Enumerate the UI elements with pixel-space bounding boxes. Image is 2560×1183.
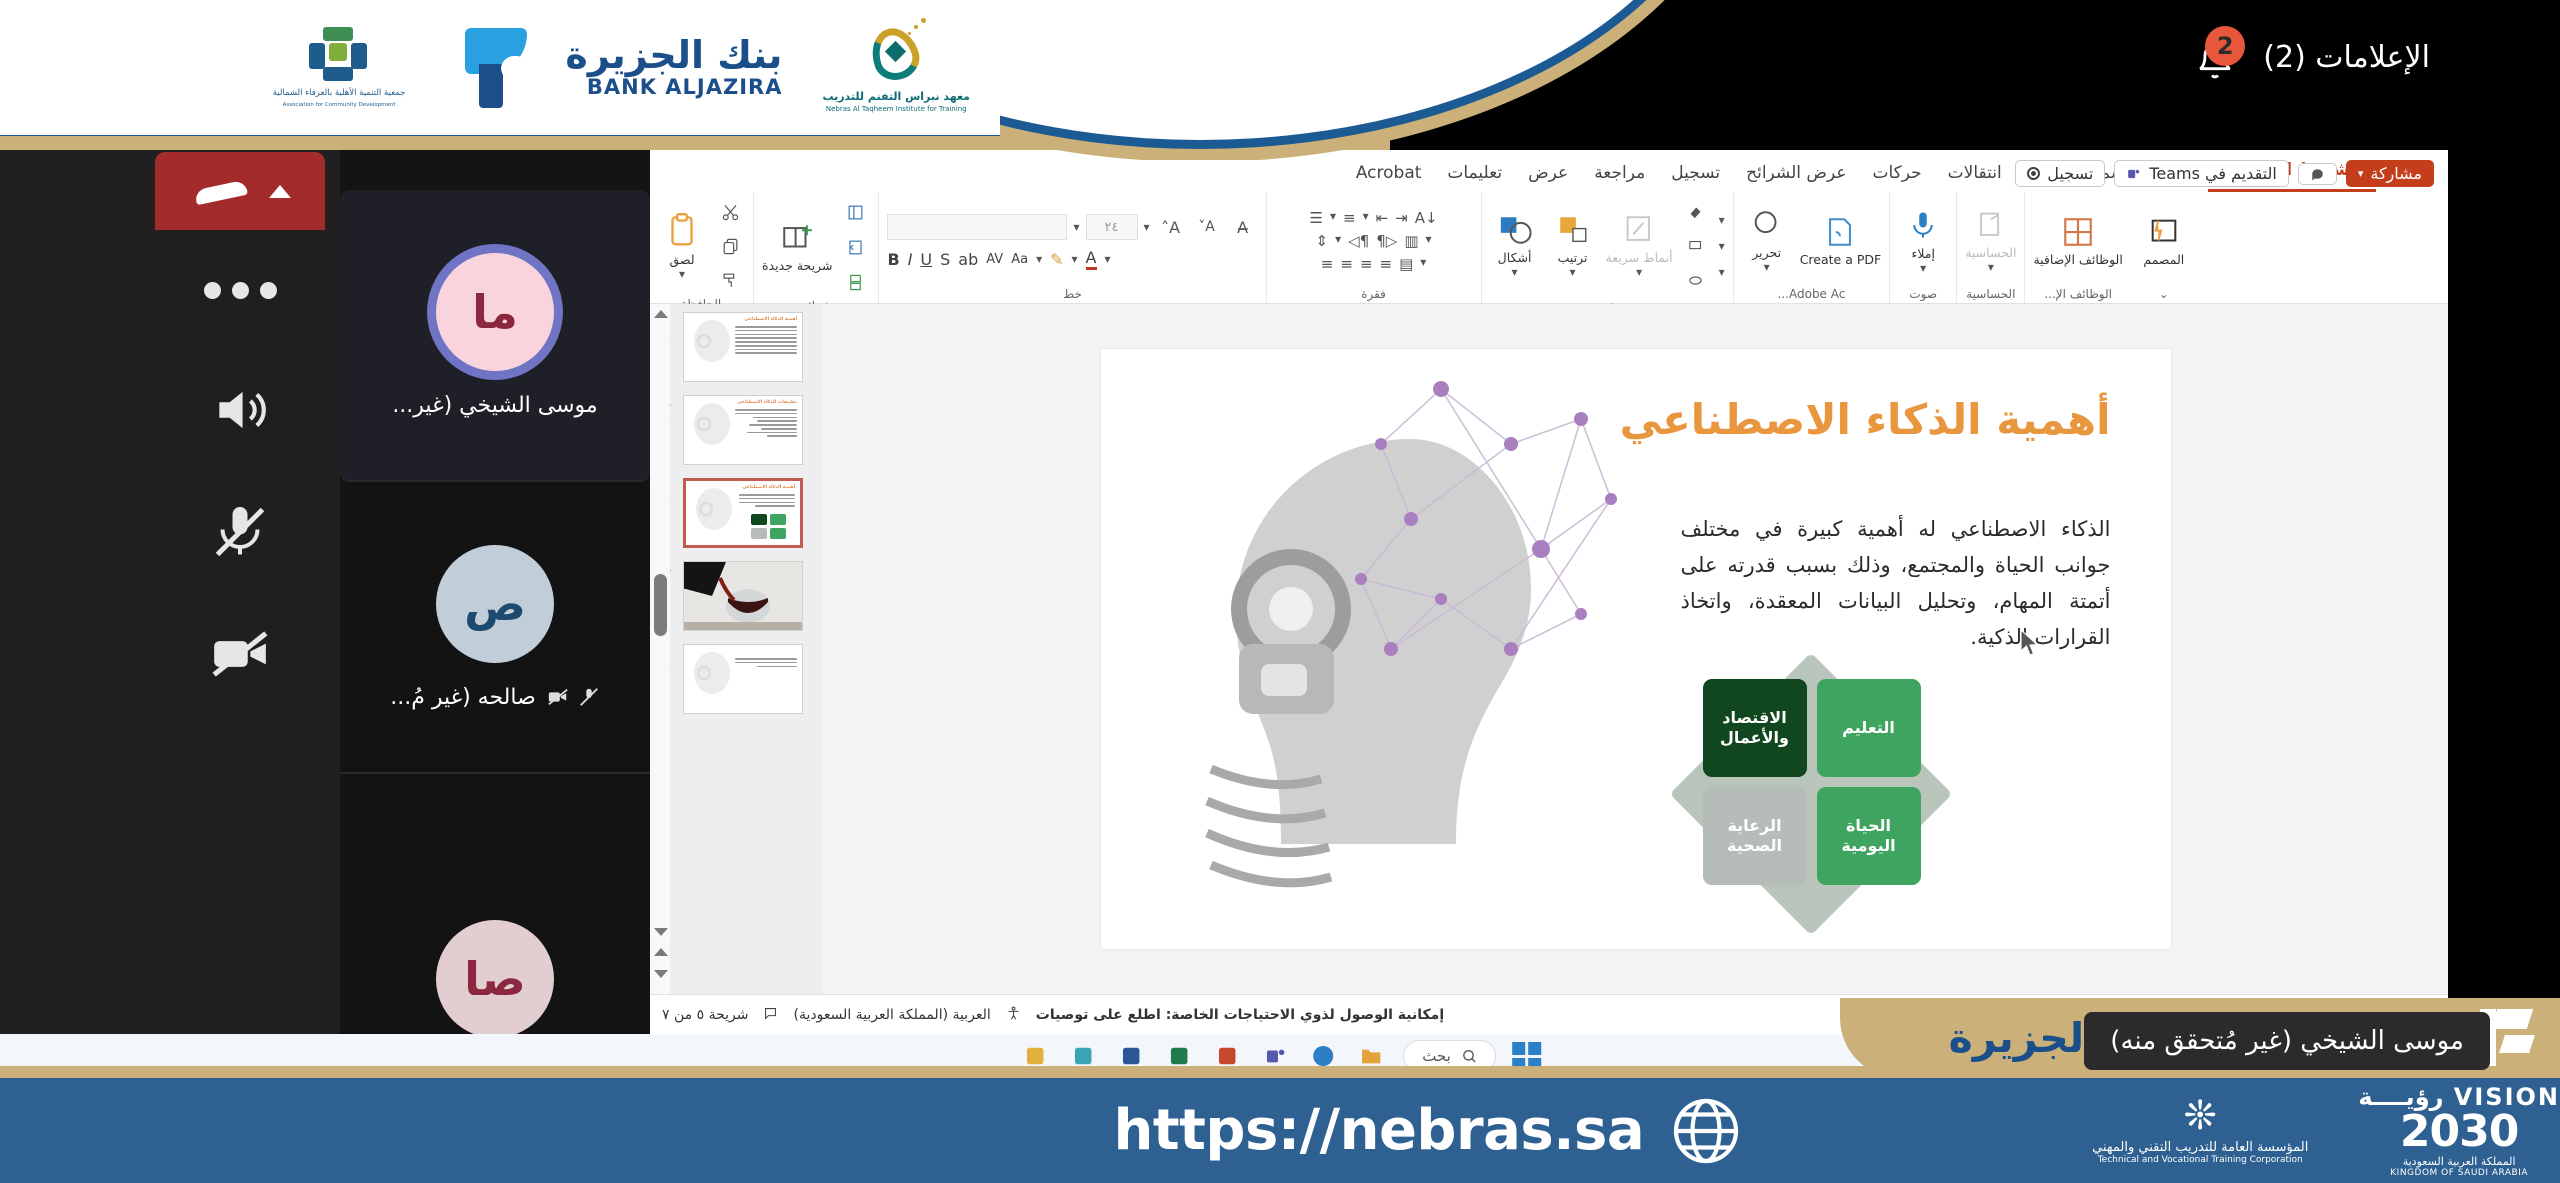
slide-body-text[interactable]: الذكاء الاصطناعي له أهمية كبيرة في مختلف… xyxy=(1681,511,2111,655)
hangup-icon xyxy=(189,177,253,205)
cut-icon[interactable] xyxy=(715,197,745,227)
vision-2030-logo: VISION رؤيــــة 2030 المملكة العربية الس… xyxy=(2338,1083,2560,1179)
thumbnail-row[interactable]: 3✸ أهمية الذكاء الاصطناعي xyxy=(655,312,817,382)
participant-status-icons xyxy=(546,686,600,708)
shadow-button[interactable]: S xyxy=(940,250,950,269)
sensitivity-label: الحساسية xyxy=(1965,245,2016,261)
scrollbar-thumb[interactable] xyxy=(654,574,667,636)
comments-button[interactable] xyxy=(2298,163,2337,185)
shape-outline-icon[interactable] xyxy=(1681,231,1711,261)
align-center-icon[interactable]: ≡ xyxy=(1340,255,1353,273)
format-painter-icon[interactable] xyxy=(715,265,745,295)
designer-button[interactable]: المصمم xyxy=(2139,215,2189,268)
clear-formatting-icon[interactable]: A̶ xyxy=(1228,212,1258,242)
designer-icon xyxy=(2145,215,2183,249)
speaker-icon xyxy=(209,379,271,441)
add-ins-icon xyxy=(2060,215,2096,249)
notifications-area[interactable]: الإعلامات (2) 2 xyxy=(2187,30,2430,84)
chevron-down-icon[interactable]: ▾ xyxy=(1636,265,1642,279)
bank-aljazira-mark-icon xyxy=(465,28,551,108)
bullets-icon[interactable]: ☰ xyxy=(1310,209,1323,227)
header-arc-decoration xyxy=(1000,0,1700,160)
character-spacing-icon[interactable]: AV xyxy=(986,252,1003,267)
tab-view[interactable]: عرض xyxy=(1515,158,1581,192)
ellipsis-icon xyxy=(204,282,277,299)
quad-box-healthcare[interactable]: الرعاية الصحية xyxy=(1703,787,1807,885)
dictate-icon xyxy=(1908,207,1938,243)
shape-fill-icon[interactable] xyxy=(1681,197,1711,227)
create-pdf-label: Create a PDF xyxy=(1800,252,1882,268)
association-logo-ar: جمعية التنمية الأهلية بالعرفاء الشمالية xyxy=(273,88,406,99)
participant-tiles: ما موسى الشيخي (غير... ص صالحه (غير مُ..… xyxy=(340,150,650,1050)
participant-name: موسى الشيخي (غير... xyxy=(392,393,597,418)
nebras-mark-icon xyxy=(864,22,928,86)
chevron-down-icon[interactable]: ▾ xyxy=(1036,252,1042,266)
bold-button[interactable]: B xyxy=(887,250,899,269)
align-right-icon[interactable]: ≡ xyxy=(1321,255,1334,273)
ribbon-group-label-font: خط xyxy=(1063,285,1082,301)
increase-indent-icon[interactable]: ⇥ xyxy=(1395,209,1408,227)
association-logo-en: Association for Community Development xyxy=(283,102,396,108)
line-spacing-icon[interactable]: ⇕ xyxy=(1316,232,1329,250)
ribbon-group-label-sensitivity: الحساسية xyxy=(1966,285,2015,301)
thumbnail-slide-3[interactable]: أهمية الذكاء الاصطناعي xyxy=(683,312,803,382)
create-pdf-button[interactable]: Create a PDF xyxy=(1800,215,1882,268)
shapes-label: أشكال xyxy=(1498,250,1532,266)
reset-icon[interactable] xyxy=(840,232,870,262)
ribbon-group-adobe: تحرير ▾ Create a PDF Adobe Ac... xyxy=(1733,192,1890,303)
thumbnail-slide-7[interactable] xyxy=(683,644,803,714)
decrease-font-size-icon[interactable]: A˅ xyxy=(1192,212,1222,242)
thumbnail-slide-6[interactable] xyxy=(683,561,803,631)
participant-tile-1[interactable]: ما موسى الشيخي (غير... xyxy=(340,190,650,482)
ribbon-collapse-chevron[interactable]: ⌄ xyxy=(2159,285,2169,301)
teams-icon xyxy=(2126,167,2142,181)
notification-badge: 2 xyxy=(2205,26,2245,66)
chevron-down-icon[interactable]: ▾ xyxy=(1512,265,1518,279)
new-slide-label: شريحة جديدة xyxy=(762,258,832,274)
paste-button[interactable]: لصق ▾ xyxy=(657,211,707,282)
website-url: https://nebras.sa xyxy=(1113,1098,1644,1163)
edit-pdf-button[interactable]: تحرير ▾ xyxy=(1742,208,1792,275)
ribbon-group-voice: إملاء ▾ صوت xyxy=(1889,192,1956,303)
chevron-down-icon: ▾ xyxy=(2358,167,2364,180)
italic-button[interactable]: I xyxy=(908,250,913,269)
camera-off-button[interactable] xyxy=(190,604,290,704)
quick-styles-button[interactable]: أنماط سريعة ▾ xyxy=(1606,213,1673,280)
chevron-down-icon[interactable]: ▾ xyxy=(1920,261,1926,275)
text-direction-icon[interactable]: ¶◁ xyxy=(1348,232,1369,250)
ribbon-content: لصق ▾ الحافظة xyxy=(648,192,2448,304)
globe-icon xyxy=(1670,1095,1742,1167)
notifications-label: الإعلامات (2) xyxy=(2263,40,2430,75)
record-button-label: تسجيل xyxy=(2047,164,2093,183)
strikethrough-button[interactable]: ab xyxy=(958,250,978,269)
tab-transitions[interactable]: انتقالات xyxy=(1935,158,2015,192)
arrange-label: ترتيب xyxy=(1558,250,1588,266)
tab-acrobat[interactable]: Acrobat xyxy=(1343,158,1435,192)
increase-font-size-icon[interactable]: A˄ xyxy=(1156,212,1186,242)
new-slide-icon xyxy=(777,221,817,255)
chevron-down-icon[interactable]: ▾ xyxy=(1570,265,1576,279)
camera-off-icon xyxy=(546,686,570,708)
add-ins-label: الوظائف الإضافية xyxy=(2033,252,2122,268)
present-in-teams-button[interactable]: التقديم في Teams xyxy=(2114,160,2289,187)
ribbon-group-addins: الوظائف الإضافية الوظائف الإ... xyxy=(2024,192,2130,303)
rtl-icon[interactable]: ▷¶ xyxy=(1376,232,1397,250)
sort-icon[interactable]: ↓A xyxy=(1415,209,1438,227)
convert-smartart-icon[interactable]: ▤ xyxy=(1399,255,1413,273)
slide-title[interactable]: أهمية الذكاء الاصطناعي xyxy=(1620,395,2111,444)
tab-animations[interactable]: حركات xyxy=(1859,158,1934,192)
leave-call-button[interactable] xyxy=(155,152,325,230)
thumbnail-row[interactable]: 6✸ xyxy=(655,561,817,631)
coffee-photo xyxy=(683,562,802,631)
font-color-icon[interactable]: A xyxy=(1086,248,1097,270)
ribbon-group-label-addins: الوظائف الإ... xyxy=(2044,285,2112,301)
vision-logo-ar: المملكة العربية السعودية xyxy=(2358,1155,2560,1168)
chevron-down-icon[interactable]: ▾ xyxy=(1144,220,1150,234)
change-case-icon[interactable]: Aa xyxy=(1011,252,1028,267)
accessibility-icon[interactable] xyxy=(1005,1005,1022,1026)
tvtc-logo-en: Technical and Vocational Training Corpor… xyxy=(2092,1155,2308,1165)
sensitivity-icon xyxy=(1973,208,2009,242)
nebras-logo-ar: معهد نبراس التفنم للتدريب xyxy=(822,90,970,103)
status-left-cluster: شريحة ٥ من ٧ العربية (المملكة العربية ال… xyxy=(662,1005,1444,1026)
chevron-down-icon[interactable]: ▾ xyxy=(679,267,685,281)
shapes-icon xyxy=(1496,213,1534,247)
slide-thumbnail-panel[interactable]: 3✸ أهمية الذكاء الاصطناعي 4✸ تطبيقات الذ… xyxy=(648,304,823,994)
chevron-down-icon[interactable]: ▾ xyxy=(1719,265,1725,279)
next-slide-button[interactable] xyxy=(654,970,668,978)
quick-styles-icon xyxy=(1621,213,1657,247)
decrease-indent-icon[interactable]: ⇤ xyxy=(1376,209,1389,227)
align-left-icon[interactable]: ≡ xyxy=(1360,255,1373,273)
ribbon-group-label-paragraph: فقرة xyxy=(1361,285,1386,301)
tab-help[interactable]: تعليمات xyxy=(1434,158,1515,192)
ribbon-group-drawing: أشكال ▾ ترتيب ▾ أنماط سريع xyxy=(1481,192,1733,303)
arrange-icon xyxy=(1555,213,1591,247)
slide-quad-diagram: التعليم الاقتصاد والأعمال الحياة اليومية… xyxy=(1703,679,1921,897)
nebras-logo: معهد نبراس التفنم للتدريب Nebras Al Taqh… xyxy=(822,22,970,113)
comment-icon xyxy=(2310,167,2325,181)
ribbon-group-sensitivity: الحساسية ▾ الحساسية xyxy=(1956,192,2024,303)
scroll-up-arrow[interactable] xyxy=(654,310,668,318)
quick-styles-label: أنماط سريعة xyxy=(1606,250,1673,266)
ribbon-group-label-voice: صوت xyxy=(1909,285,1937,301)
record-icon xyxy=(2027,167,2040,180)
justify-icon[interactable]: ≡ xyxy=(1380,255,1393,273)
numbering-icon[interactable]: ≡ xyxy=(1343,209,1356,227)
avatar: ما xyxy=(436,253,554,371)
chevron-down-icon[interactable]: ▾ xyxy=(1764,260,1770,274)
ribbon-group-font: ▾ ٢٤ ▾ A˄ A˅ A̶ B I U S ab AV Aa xyxy=(878,192,1265,303)
participant-name: صالحه (غير مُ... xyxy=(390,685,536,710)
participant-tile-3[interactable]: صا xyxy=(340,774,650,1066)
robot-head-illustration xyxy=(1111,349,1631,949)
avatar: صا xyxy=(436,920,554,1038)
chevron-down-icon[interactable]: ▾ xyxy=(1073,220,1079,234)
layout-icon[interactable] xyxy=(840,197,870,227)
participant-tooltip: موسى الشيخي (غير مُتحقق منه) xyxy=(2084,1012,2490,1070)
bank-aljazira-en: BANK ALJAZIRA xyxy=(565,75,782,99)
current-slide[interactable]: أهمية الذكاء الاصطناعي الذكاء الاصطناعي … xyxy=(1101,349,2171,949)
ribbon-group-slides: شريحة جديدة شرائح xyxy=(753,192,878,303)
microphone-off-icon xyxy=(578,686,600,708)
slide-workspace: أهمية الذكاء الاصطناعي الذكاء الاصطناعي … xyxy=(648,304,2448,994)
slide-canvas[interactable]: أهمية الذكاء الاصطناعي الذكاء الاصطناعي … xyxy=(823,304,2448,994)
screen-root: معهد نبراس التفنم للتدريب Nebras Al Taqh… xyxy=(0,0,2560,1183)
edit-pdf-icon xyxy=(1748,208,1786,242)
thumbnail-row[interactable]: 7✸ xyxy=(655,644,817,714)
chevron-down-icon[interactable]: ▾ xyxy=(1719,239,1725,253)
accessibility-status[interactable]: إمكانية الوصول لذوي الاحتياجات الخاصة: ا… xyxy=(1036,1007,1444,1023)
tvtc-logo: ❊ المؤسسة العامة للتدريب التقني والمهني … xyxy=(2092,1096,2308,1165)
ribbon-group-designer: المصمم ⌄ xyxy=(2131,192,2197,303)
thumbnail-slide-4[interactable]: تطبيقات الذكاء الاصطناعي xyxy=(683,395,803,465)
edit-pdf-label: تحرير xyxy=(1752,245,1781,261)
search-icon xyxy=(1461,1048,1477,1064)
microphone-mute-button[interactable] xyxy=(190,482,290,582)
vision-logo-en: KINGDOM OF SAUDI ARABIA xyxy=(2358,1168,2560,1178)
font-size-select[interactable]: ٢٤ xyxy=(1086,214,1138,240)
more-options-button[interactable] xyxy=(190,240,290,340)
quad-box-daily-life[interactable]: الحياة اليومية xyxy=(1817,787,1921,885)
ribbon-group-label-adobe: Adobe Ac... xyxy=(1778,285,1846,301)
search-placeholder: بحث xyxy=(1422,1047,1451,1065)
mouse-cursor-icon xyxy=(2019,629,2041,659)
quad-box-education[interactable]: التعليم xyxy=(1817,679,1921,777)
thumbnail-row[interactable]: 4✸ تطبيقات الذكاء الاصطناعي xyxy=(655,395,817,465)
share-button[interactable]: مشاركة ▾ xyxy=(2346,160,2434,187)
create-pdf-icon xyxy=(1821,215,1859,249)
avatar: ص xyxy=(436,545,554,663)
ribbon-group-clipboard: لصق ▾ الحافظة xyxy=(648,192,753,303)
slide-counter: شريحة ٥ من ٧ xyxy=(662,1007,748,1023)
copy-icon[interactable] xyxy=(715,231,745,261)
quad-box-economy[interactable]: الاقتصاد والأعمال xyxy=(1703,679,1807,777)
paste-label: لصق xyxy=(669,252,694,268)
paste-icon xyxy=(663,211,701,249)
previous-slide-button[interactable] xyxy=(654,948,668,956)
chevron-down-icon[interactable]: ▾ xyxy=(1988,260,1994,274)
website-url-block: https://nebras.sa xyxy=(1113,1095,1742,1167)
participant-tile-2[interactable]: ص صالحه (غير مُ... xyxy=(340,482,650,774)
text-highlight-icon[interactable]: ✎ xyxy=(1050,250,1063,269)
spell-check-icon[interactable] xyxy=(762,1005,779,1026)
participant-name-row: صالحه (غير مُ... xyxy=(390,685,600,710)
camera-off-icon xyxy=(209,623,271,685)
tvtc-mark-icon: ❊ xyxy=(2092,1096,2308,1136)
new-slide-button[interactable]: شريحة جديدة xyxy=(762,221,832,274)
shapes-button[interactable]: أشكال ▾ xyxy=(1490,213,1540,280)
tab-review[interactable]: مراجعة xyxy=(1581,158,1658,192)
powerpoint-window: ملف الشريط الرئيسي إدراج رسم تصميم انتقا… xyxy=(648,150,2448,1035)
present-in-teams-label: التقديم في Teams xyxy=(2149,164,2277,183)
page-footer: VISION رؤيــــة 2030 المملكة العربية الس… xyxy=(0,1078,2560,1183)
dictate-label: إملاء xyxy=(1911,246,1935,262)
association-mark-icon xyxy=(309,27,369,83)
shape-effects-icon[interactable] xyxy=(1681,265,1711,295)
dictate-button[interactable]: إملاء ▾ xyxy=(1898,207,1948,276)
arrange-button[interactable]: ترتيب ▾ xyxy=(1548,213,1598,280)
bell-icon[interactable]: 2 xyxy=(2187,30,2241,84)
chevron-down-icon[interactable]: ▾ xyxy=(1105,252,1111,266)
tvtc-logo-ar: المؤسسة العامة للتدريب التقني والمهني xyxy=(2092,1140,2308,1155)
ribbon-actions: مشاركة ▾ التقديم في Teams تسجيل xyxy=(2015,160,2434,187)
tab-record[interactable]: تسجيل xyxy=(1658,158,1733,192)
vision-logo-number: 2030 xyxy=(2358,1111,2560,1153)
scroll-down-arrow[interactable] xyxy=(654,928,668,936)
nebras-logo-en: Nebras Al Taqheem Institute for Training xyxy=(826,105,967,113)
thumbnail-row-selected[interactable]: 5✸ أهمية الذكاء الاصطناعي xyxy=(655,478,817,548)
section-icon[interactable] xyxy=(840,267,870,297)
designer-label: المصمم xyxy=(2143,252,2184,268)
record-button[interactable]: تسجيل xyxy=(2015,160,2105,187)
underline-button[interactable]: U xyxy=(920,250,932,269)
sensitivity-button[interactable]: الحساسية ▾ xyxy=(1965,208,2016,275)
chevron-up-icon[interactable] xyxy=(269,185,291,198)
language-indicator[interactable]: العربية (المملكة العربية السعودية) xyxy=(793,1007,990,1023)
columns-icon[interactable]: ▥ xyxy=(1404,232,1418,250)
chevron-down-icon[interactable]: ▾ xyxy=(1072,252,1078,266)
add-ins-button[interactable]: الوظائف الإضافية xyxy=(2033,215,2122,268)
chevron-down-icon[interactable]: ▾ xyxy=(1719,213,1725,227)
tab-slideshow[interactable]: عرض الشرائح xyxy=(1733,158,1859,192)
microphone-off-icon xyxy=(210,502,270,562)
share-button-label: مشاركة xyxy=(2370,164,2422,183)
bank-aljazira-ar: بنك الجزيرة xyxy=(565,36,782,76)
ribbon-group-paragraph: ☰▾ ≡▾ ⇤ ⇥ ↓A ⇕▾ ¶◁ ▷¶ ▥▾ ≡ ≡ xyxy=(1266,192,1481,303)
font-name-select[interactable] xyxy=(887,214,1067,240)
speaker-button[interactable] xyxy=(190,360,290,460)
thumbnail-slide-5[interactable]: أهمية الذكاء الاصطناعي xyxy=(683,478,803,548)
bank-aljazira-logo: بنك الجزيرة BANK ALJAZIRA xyxy=(465,28,782,108)
association-logo: جمعية التنمية الأهلية بالعرفاء الشمالية … xyxy=(273,27,406,107)
canvas-vertical-scrollbar[interactable] xyxy=(648,304,670,994)
